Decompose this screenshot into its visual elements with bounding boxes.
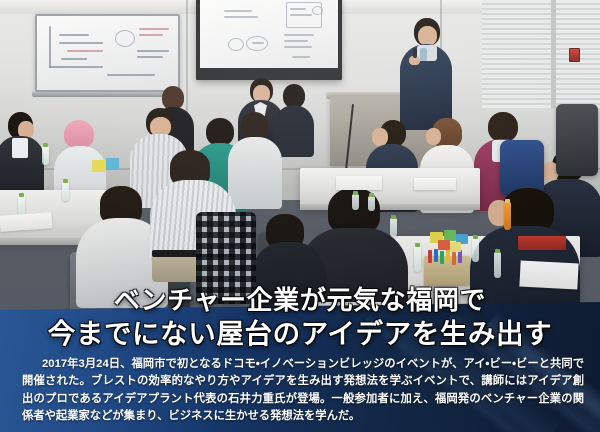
marker: [440, 251, 444, 264]
marker: [434, 249, 438, 262]
marker: [428, 250, 432, 263]
participant: [0, 112, 44, 194]
paper-sheet: [519, 261, 578, 290]
water-bottle: [18, 196, 25, 215]
fire-alarm-box: [569, 48, 580, 62]
sticky-note: [450, 242, 461, 252]
projection-screen: [196, 0, 342, 80]
paper-sheet: [414, 178, 456, 190]
notebook: [518, 236, 566, 250]
water-bottle: [42, 146, 49, 165]
water-bottle: [62, 182, 69, 201]
water-bottle: [390, 218, 397, 237]
water-bottle: [352, 194, 359, 210]
speaker: [398, 18, 454, 128]
sticky-note: [106, 158, 119, 170]
tea-bottle: [504, 202, 511, 230]
window-blinds: [482, 0, 600, 108]
sticky-note: [92, 160, 106, 172]
whiteboard: [35, 14, 180, 92]
article-hero-banner: ベンチャー企業が元気な福岡で 今までにない屋台のアイデアを生み出す 2017年3…: [0, 0, 600, 432]
water-bottle: [494, 252, 501, 278]
paper-sheet: [336, 176, 382, 190]
marker: [452, 252, 456, 265]
seminar-photo: [0, 0, 600, 340]
participant: [228, 112, 282, 206]
water-bottle: [472, 238, 479, 262]
water-bottle: [368, 196, 375, 211]
article-lead-paragraph: 2017年3月24日、福岡市で初となるドコモ・イノベーションビレッジのイベントが…: [22, 356, 584, 425]
window-post: [551, 0, 556, 108]
chair: [556, 104, 598, 176]
sticky-note: [438, 240, 450, 250]
water-bottle: [414, 246, 421, 272]
jacket-on-chair: [196, 212, 256, 304]
